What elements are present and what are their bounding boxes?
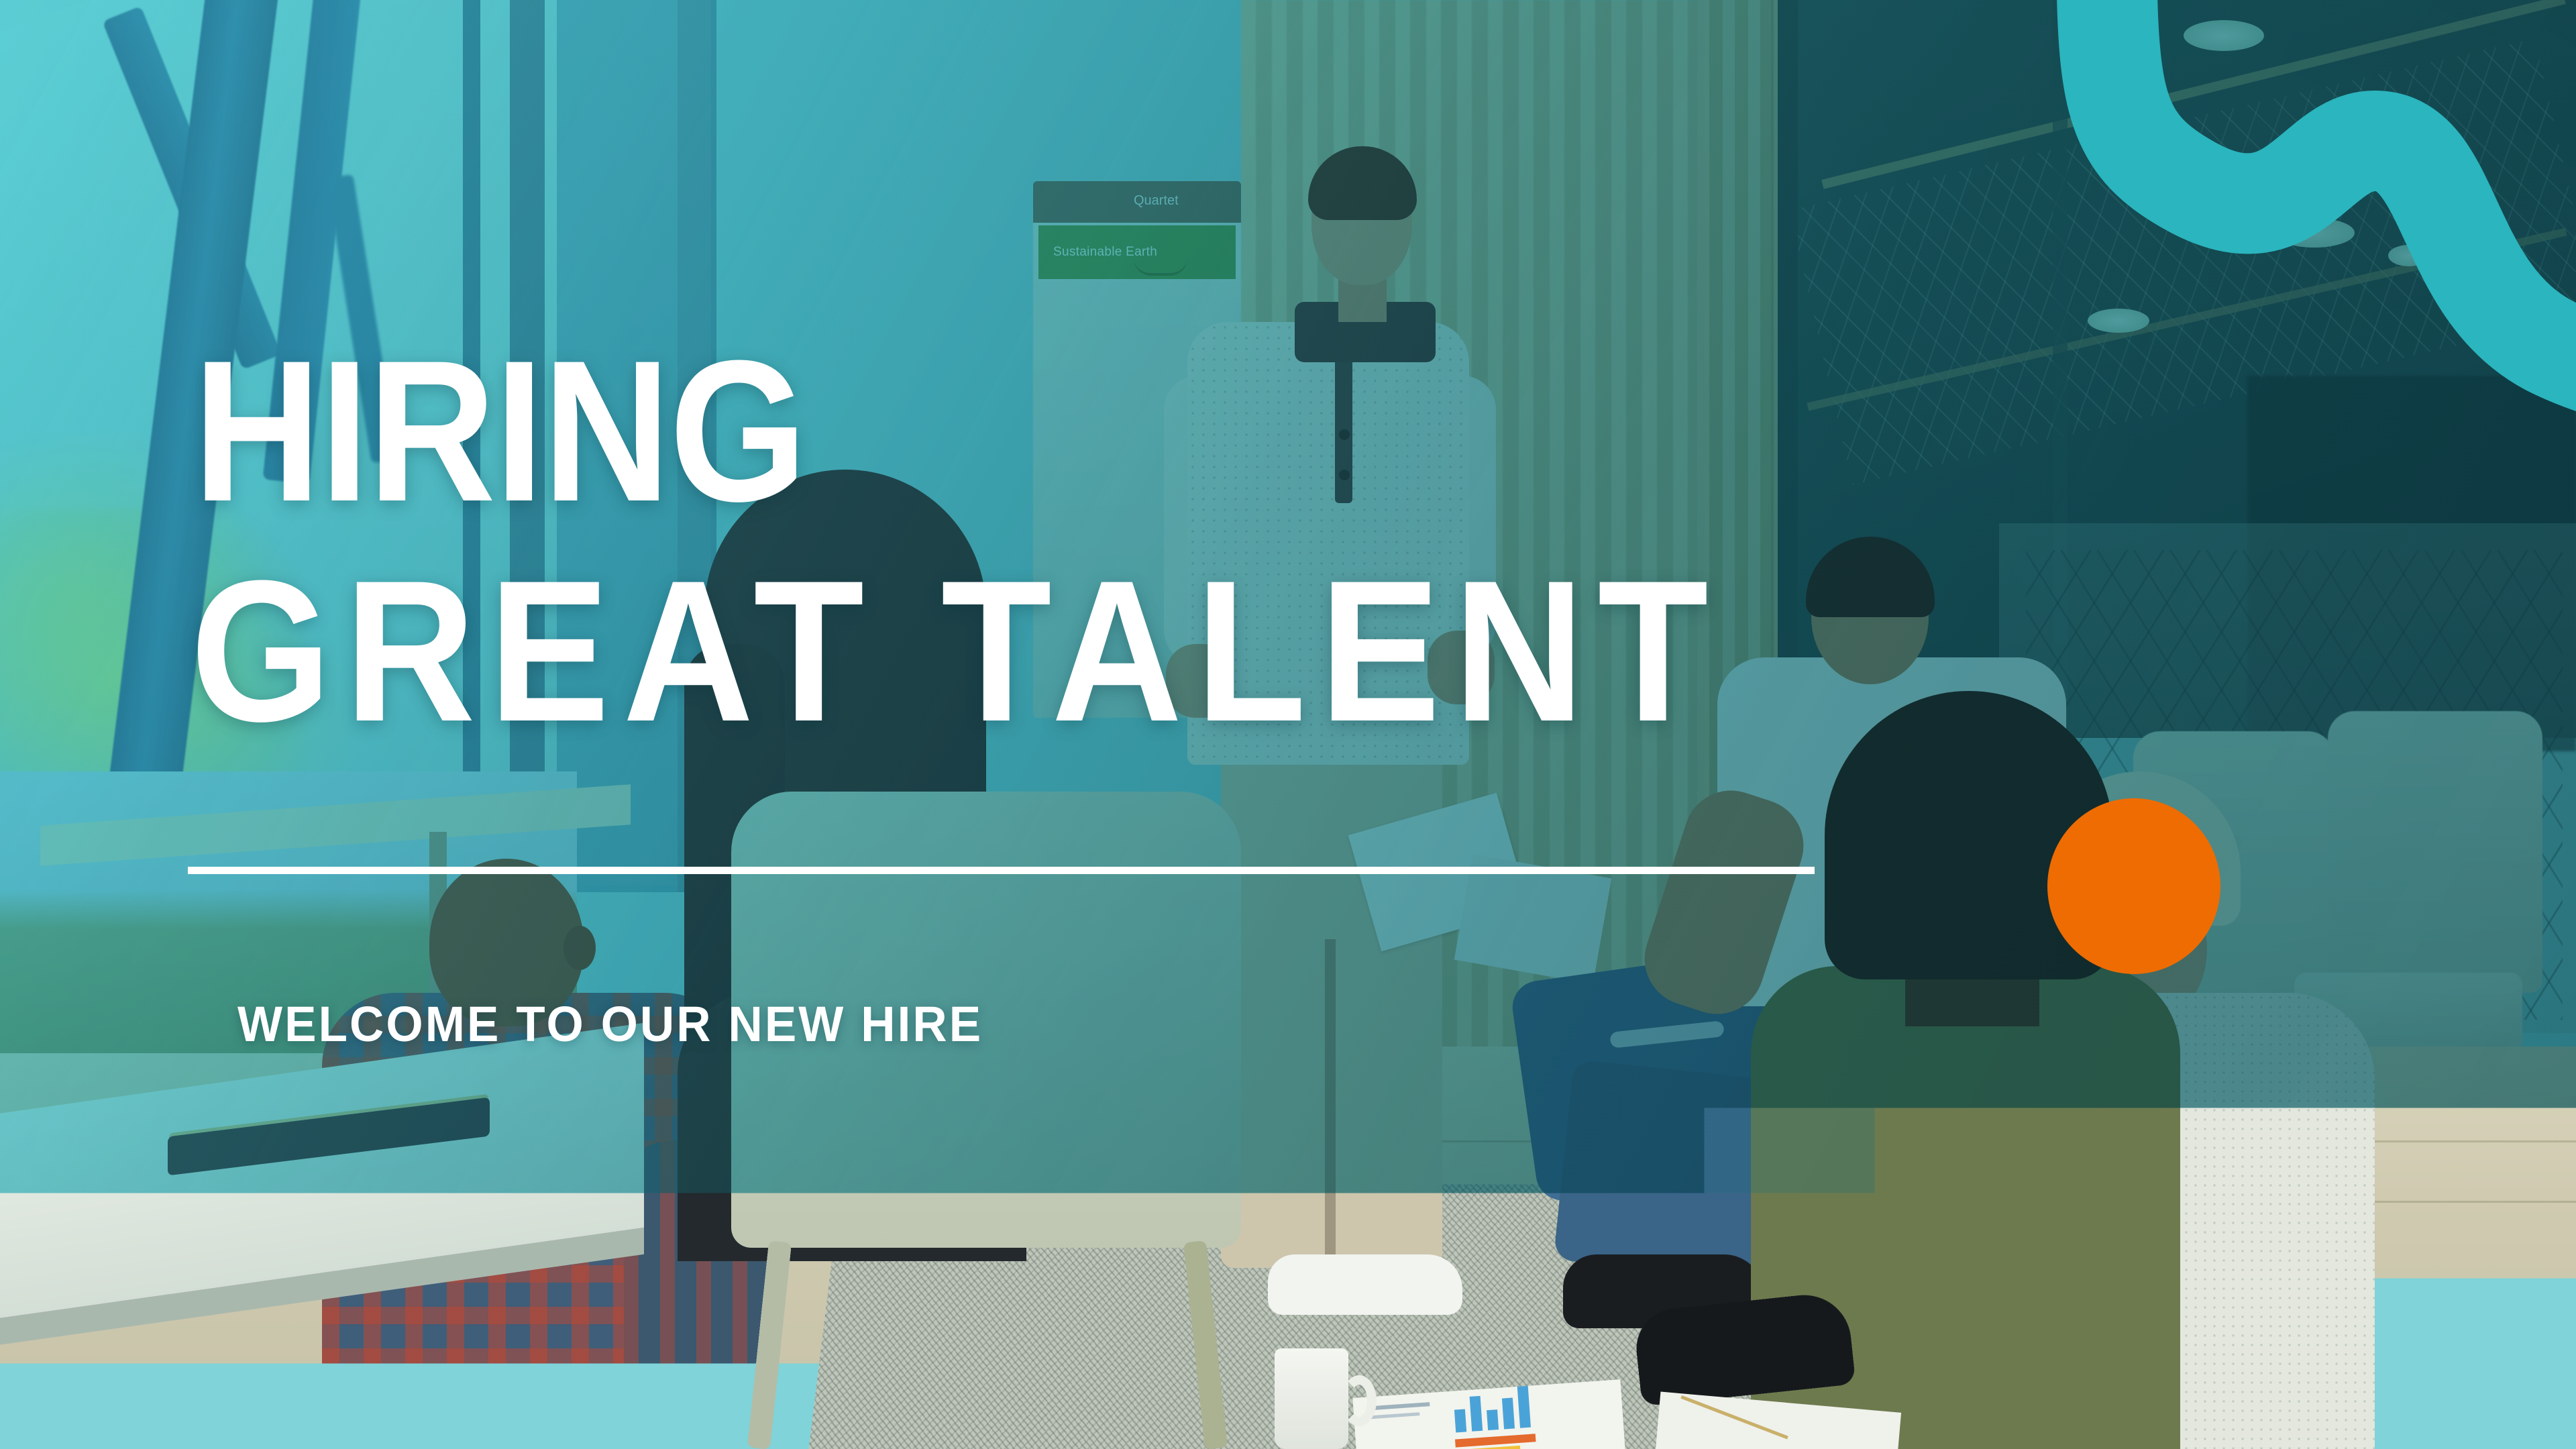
headline-line-2: GREAT TALENT [191, 550, 1721, 751]
orange-dot [2047, 798, 2220, 974]
poster-canvas: Quartet Sustainable Earth [0, 0, 2576, 1449]
subtitle: WELCOME TO OUR NEW HIRE [237, 998, 983, 1051]
horizontal-divider-rule [188, 867, 1815, 874]
yellow-arc [2100, 1053, 2576, 1449]
headline-line-1: HIRING [193, 330, 806, 531]
teal-wave-squiggle [2026, 0, 2576, 429]
